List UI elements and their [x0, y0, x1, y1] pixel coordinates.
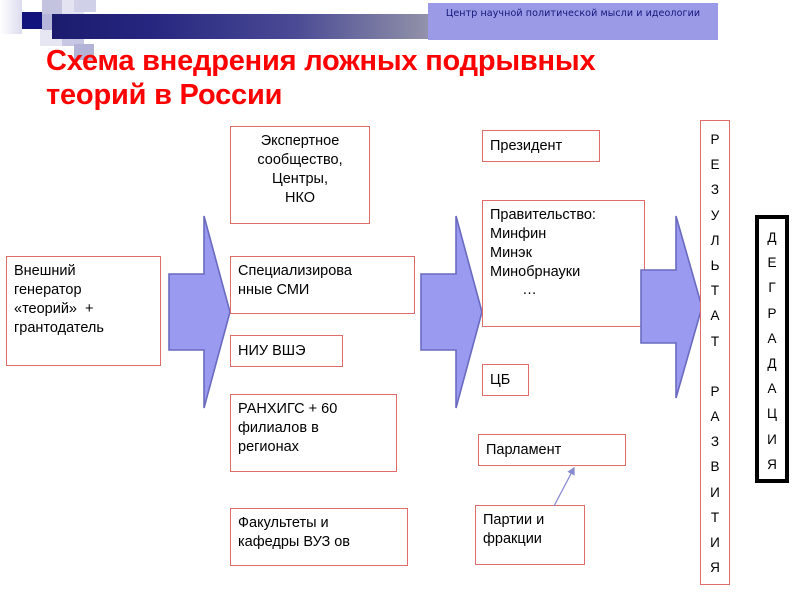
box-line: Минэк: [490, 244, 637, 263]
box-parties-and-factions[interactable]: Партии и фракции: [475, 505, 585, 565]
decoration-square-8: [74, 0, 96, 12]
box-line: Центры,: [238, 170, 362, 189]
vertical-letter: У: [701, 203, 729, 228]
organization-badge: Центр научной политической мысли и идеол…: [428, 3, 718, 40]
vertical-letter: Я: [759, 452, 785, 477]
vertical-letter: З: [701, 429, 729, 454]
vertical-letter: Р: [701, 127, 729, 152]
box-faculties-and-departments[interactable]: Факультеты и кафедры ВУЗ ов: [230, 508, 408, 566]
box-line: фракции: [483, 530, 577, 549]
vertical-letter: И: [701, 530, 729, 555]
page-title: Схема внедрения ложных подрывных теорий …: [46, 44, 686, 112]
box-line: Минфин: [490, 225, 637, 244]
box-specialized-media[interactable]: Специализирова нные СМИ: [230, 256, 415, 314]
box-line: Президент: [490, 137, 592, 156]
connector-parties-to-parliament: [530, 462, 590, 508]
box-line: регионах: [238, 438, 389, 457]
decoration-square-1: [0, 0, 22, 34]
vertical-letter: Т: [701, 278, 729, 303]
vertical-letter: Р: [759, 301, 785, 326]
box-line: Парламент: [486, 441, 618, 460]
vertical-letter: И: [759, 427, 785, 452]
box-line: Минобрнауки: [490, 263, 637, 282]
vertical-letter: Т: [701, 329, 729, 354]
box-line: филиалов в: [238, 419, 389, 438]
box-line: …: [490, 281, 637, 300]
vertical-letter: А: [701, 404, 729, 429]
vertical-letter: Е: [759, 250, 785, 275]
decoration-square-2: [22, 12, 42, 29]
decoration-square-3: [42, 0, 62, 14]
vertical-letter: А: [759, 326, 785, 351]
box-government[interactable]: Правительство: Минфин Минэк Минобрнауки …: [482, 200, 645, 327]
arrow-intermediaries-to-state: [420, 212, 484, 412]
box-external-generator[interactable]: Внешний генератор «теорий» + грантодател…: [6, 256, 161, 366]
vertical-letter-gap: [701, 354, 729, 379]
box-line: НИУ ВШЭ: [238, 342, 335, 361]
box-line: Экспертное: [238, 132, 362, 151]
box-line: ЦБ: [490, 371, 521, 390]
box-line: РАНХИГС + 60: [238, 400, 389, 419]
box-line: генератор: [14, 281, 153, 300]
vertical-letter: Д: [759, 351, 785, 376]
vertical-letter: Ц: [759, 401, 785, 426]
vertical-letter: З: [701, 177, 729, 202]
page-title-line-2: теорий в России: [46, 78, 686, 112]
box-expert-community[interactable]: Экспертное сообщество, Центры, НКО: [230, 126, 370, 224]
slide-canvas: Центр научной политической мысли и идеол…: [0, 0, 800, 600]
vertical-letter: Ь: [701, 253, 729, 278]
box-line: сообщество,: [238, 151, 362, 170]
vertical-letter: Я: [701, 555, 729, 580]
vertical-letter: Д: [759, 225, 785, 250]
vertical-letter: А: [759, 376, 785, 401]
vertical-letter: Т: [701, 505, 729, 530]
box-line: Факультеты и: [238, 514, 400, 533]
box-line: кафедры ВУЗ ов: [238, 533, 400, 552]
box-line: «теорий» +: [14, 300, 153, 319]
vertical-letter: Е: [701, 152, 729, 177]
box-line: Правительство:: [490, 206, 637, 225]
box-development-result[interactable]: Р Е З У Л Ь Т А Т Р А З В И Т И Я: [700, 120, 730, 585]
vertical-letter: И: [701, 480, 729, 505]
box-degradation[interactable]: Д Е Г Р А Д А Ц И Я: [755, 215, 789, 483]
page-title-line-1: Схема внедрения ложных подрывных: [46, 44, 686, 78]
box-president[interactable]: Президент: [482, 130, 600, 162]
box-line: НКО: [238, 189, 362, 208]
vertical-letter: Р: [701, 379, 729, 404]
vertical-letter: В: [701, 454, 729, 479]
box-line: нные СМИ: [238, 281, 407, 300]
vertical-letter: А: [701, 303, 729, 328]
box-line: Партии и: [483, 511, 577, 530]
vertical-letter: Г: [759, 275, 785, 300]
box-line: грантодатель: [14, 319, 153, 338]
organization-badge-label: Центр научной политической мысли и идеол…: [446, 8, 700, 19]
arrow-source-to-intermediaries: [168, 212, 232, 412]
arrow-state-to-result: [640, 212, 704, 402]
vertical-letter: Л: [701, 228, 729, 253]
box-line: Специализирова: [238, 262, 407, 281]
box-central-bank[interactable]: ЦБ: [482, 364, 529, 396]
box-ranepa[interactable]: РАНХИГС + 60 филиалов в регионах: [230, 394, 397, 472]
box-hse[interactable]: НИУ ВШЭ: [230, 335, 343, 367]
box-line: Внешний: [14, 262, 153, 281]
